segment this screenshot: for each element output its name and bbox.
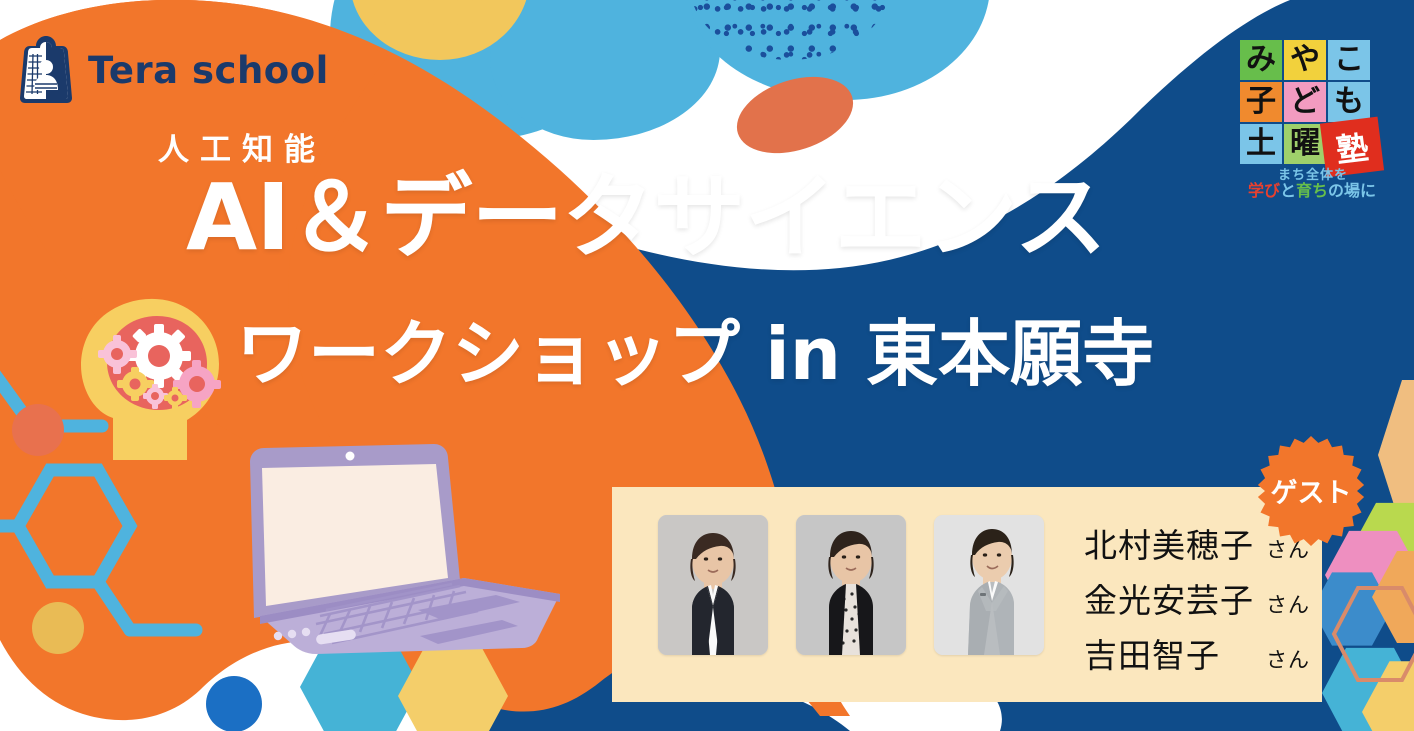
miyako-cell-7: 曜 <box>1284 124 1326 164</box>
miyako-kodomo-doyoujuku-logo[interactable]: み や こ 子 ど も 土 曜 塾 まち全体を 学びと育ちの場に <box>1228 36 1398 196</box>
list-item: 金光安芸子 さん <box>1084 574 1310 622</box>
miyako-cell-6: 土 <box>1240 124 1282 164</box>
laptop-icon <box>220 440 590 670</box>
miyako-cell-4: ど <box>1284 82 1326 122</box>
miyako-cell-3: 子 <box>1240 82 1282 122</box>
guest-photo-row <box>658 515 1044 655</box>
temple-building-icon <box>16 34 76 106</box>
guest-name-2: 吉田智子 <box>1084 629 1266 677</box>
miyako-cell-0: み <box>1240 40 1282 80</box>
miyako-cell-5: も <box>1328 82 1370 122</box>
guest-photo-0 <box>658 515 768 655</box>
hex-outline-right <box>1330 584 1414 684</box>
guest-photo-1 <box>796 515 906 655</box>
portrait-woman-navy-suit <box>658 515 768 655</box>
tera-school-logo[interactable]: Tera school <box>16 34 329 106</box>
miyako-cell-1: や <box>1284 40 1326 80</box>
miyako-tagline-2b: と <box>1280 181 1296 200</box>
poster-canvas: Tera school み や こ 子 ど も 土 曜 塾 まち全体を 学びと育… <box>0 0 1414 731</box>
miyako-cell-2: こ <box>1328 40 1370 80</box>
portrait-woman-black-jacket <box>796 515 906 655</box>
guest-name-1: 金光安芸子 <box>1084 574 1266 622</box>
guest-badge-label: ゲスト <box>1271 471 1352 510</box>
circle-blue-bottom <box>206 676 262 731</box>
headline-kicker: 人工知能 <box>158 124 326 169</box>
list-item: 吉田智子 さん <box>1084 629 1310 677</box>
guest-honorific-2: さん <box>1266 644 1310 674</box>
node-yellow <box>32 602 84 654</box>
tera-school-wordmark: Tera school <box>88 52 329 89</box>
guest-name-0: 北村美穂子 <box>1084 519 1266 567</box>
miyako-tagline-2d: の場に <box>1328 181 1376 200</box>
guest-honorific-1: さん <box>1266 589 1310 619</box>
page-title: AI＆データサイエンス <box>186 172 1106 264</box>
miyako-tagline-2a: 学び <box>1248 181 1280 200</box>
page-subtitle: ワークショップ in 東本願寺 <box>236 318 1154 390</box>
miyako-tagline-2: 学びと育ちの場に <box>1236 177 1388 201</box>
guest-panel: 北村美穂子 さん 金光安芸子 さん 吉田智子 さん <box>612 487 1322 702</box>
ai-brain-head-icon <box>55 292 245 462</box>
miyako-tagline-2c: 育ち <box>1296 181 1328 200</box>
portrait-woman-grey-jacket <box>934 515 1044 655</box>
guest-photo-2 <box>934 515 1044 655</box>
guest-name-list: 北村美穂子 さん 金光安芸子 さん 吉田智子 さん <box>1084 519 1310 677</box>
